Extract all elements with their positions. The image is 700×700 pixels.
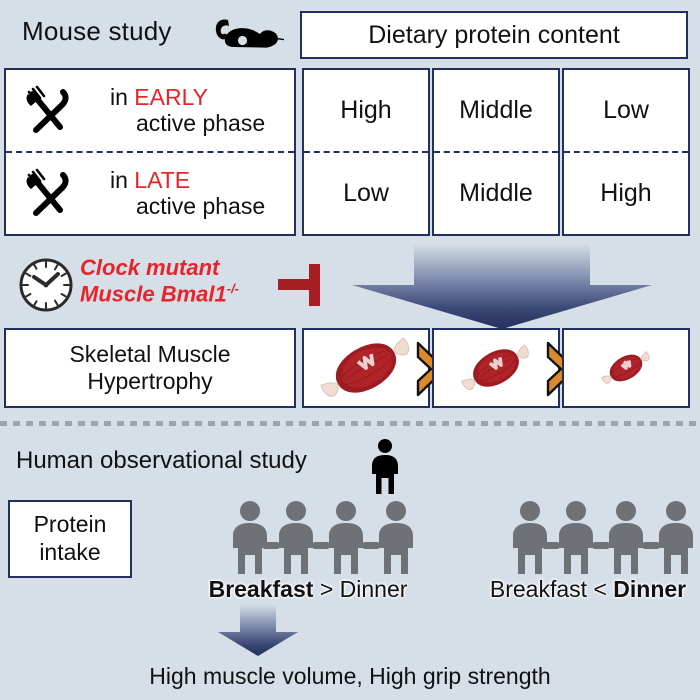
muscle-icon <box>564 330 688 406</box>
phase-row-early: in EARLY active phase <box>6 70 294 151</box>
feeding-phase-column: in EARLY active phase <box>4 68 296 236</box>
clock-mutant-line1: Clock mutant <box>80 255 239 281</box>
compare-left-right-meal: Dinner <box>340 576 408 602</box>
big-down-arrow-icon <box>352 243 652 329</box>
compare-left-meal: Breakfast <box>209 576 314 602</box>
protein-intake-label: Protein intake <box>8 500 132 578</box>
clock-icon <box>18 257 74 313</box>
mouse-study-title: Mouse study <box>22 16 172 47</box>
protein-intake-line1: Protein <box>34 511 107 539</box>
human-study-title: Human observational study <box>16 447 307 475</box>
diet-cell-late-3: High <box>564 151 688 234</box>
clock-mutant-line2: Muscle Bmal1-/- <box>80 281 239 307</box>
cutlery-icon <box>18 82 76 140</box>
dietary-protein-header: Dietary protein content <box>300 11 688 59</box>
diet-cell-early-2: Middle <box>434 70 558 151</box>
compare-left-operator: > <box>320 576 333 602</box>
graphical-abstract: Mouse study Dietary protein content <box>0 0 700 700</box>
dietary-protein-header-label: Dietary protein content <box>368 21 620 50</box>
conclusion-text: High muscle volume, High grip strength <box>0 663 700 690</box>
diet-column-2: Middle Middle <box>432 68 560 236</box>
clock-mutant-gene: Muscle Bmal1 <box>80 281 227 306</box>
section-divider <box>0 421 700 426</box>
phase-label-late: in LATE active phase <box>76 168 294 220</box>
hypertrophy-line2: Hypertrophy <box>69 368 230 395</box>
muscle-panel-1 <box>302 328 430 408</box>
crowd-icon <box>222 500 422 576</box>
mouse-icon <box>212 14 286 56</box>
compare-right-left-meal: Breakfast <box>490 576 587 602</box>
muscle-panel-2 <box>432 328 560 408</box>
protein-intake-line2: intake <box>34 539 107 567</box>
phase-early-line2: active phase <box>88 111 294 137</box>
diet-cell-early-3: Low <box>564 70 688 151</box>
muscle-icon <box>304 330 428 406</box>
muscle-panel-3 <box>562 328 690 408</box>
inhibition-bar-icon <box>278 262 330 308</box>
diet-cell-early-1: High <box>304 70 428 151</box>
phase-late-prefix: in <box>110 167 134 193</box>
phase-early-prefix: in <box>110 84 134 110</box>
comparison-breakfast-greater: Breakfast > Dinner <box>158 576 458 603</box>
person-icon <box>368 438 402 494</box>
diet-column-3: Low High <box>562 68 690 236</box>
clock-mutant-genotype: -/- <box>227 281 239 296</box>
conclusion-down-arrow-icon <box>208 604 308 656</box>
hypertrophy-line1: Skeletal Muscle <box>69 341 230 368</box>
clock-mutant-label: Clock mutant Muscle Bmal1-/- <box>80 255 239 307</box>
diet-cell-late-1: Low <box>304 151 428 234</box>
comparison-dinner-greater: Breakfast < Dinner <box>438 576 700 603</box>
phase-late-line2: active phase <box>88 194 294 220</box>
diet-cell-late-2: Middle <box>434 151 558 234</box>
phase-label-early: in EARLY active phase <box>76 85 294 137</box>
phase-row-late: in LATE active phase <box>6 151 294 234</box>
muscle-icon <box>434 330 558 406</box>
compare-right-meal: Dinner <box>613 576 686 602</box>
diet-column-1: High Low <box>302 68 430 236</box>
crowd-icon <box>502 500 700 576</box>
cutlery-icon <box>18 165 76 223</box>
skeletal-muscle-hypertrophy-label: Skeletal Muscle Hypertrophy <box>4 328 296 408</box>
phase-late-emphasis: LATE <box>134 167 190 193</box>
phase-early-emphasis: EARLY <box>134 84 208 110</box>
compare-right-operator: < <box>593 576 606 602</box>
